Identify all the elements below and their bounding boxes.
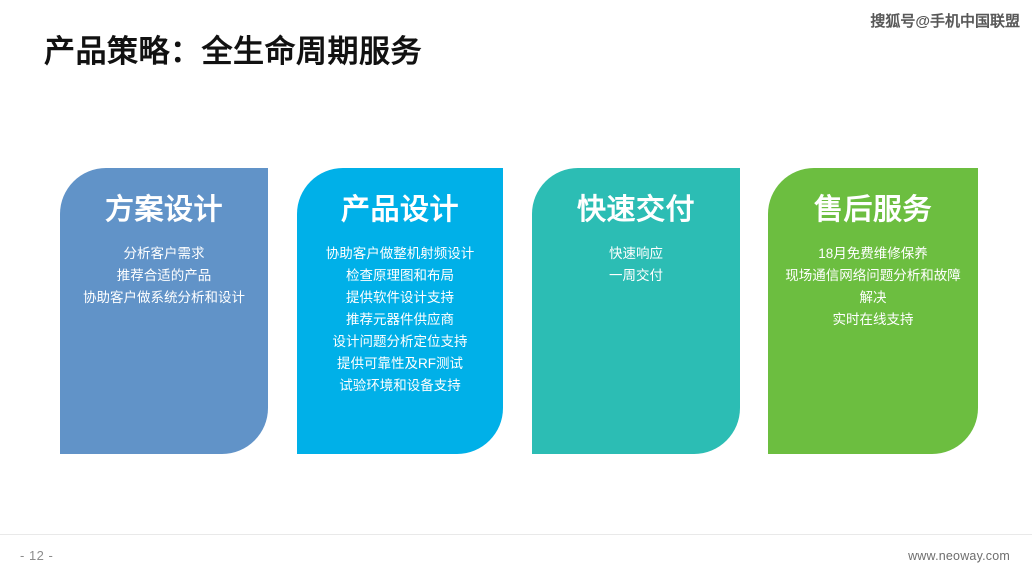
service-card-line: 推荐合适的产品 xyxy=(72,265,256,287)
page-number: - 12 - xyxy=(20,548,53,563)
watermark-text: 搜狐号@手机中国联盟 xyxy=(870,10,1020,31)
service-card-body: 协助客户做整机射频设计 检查原理图和布局 提供软件设计支持 推荐元器件供应商 设… xyxy=(303,243,497,397)
service-card-title: 售后服务 xyxy=(774,194,972,227)
page-title: 产品策略：全生命周期服务 xyxy=(44,26,422,71)
service-card-body: 快速响应 一周交付 xyxy=(538,243,734,287)
service-card-line: 现场通信网络问题分析和故障解决 xyxy=(780,265,966,309)
site-url: www.neoway.com xyxy=(908,549,1010,563)
service-card-line: 18月免费维修保养 xyxy=(780,243,966,265)
service-card-product-design[interactable]: 产品设计 协助客户做整机射频设计 检查原理图和布局 提供软件设计支持 推荐元器件… xyxy=(297,168,503,454)
service-card-title: 快速交付 xyxy=(538,194,734,227)
service-card-line: 实时在线支持 xyxy=(780,309,966,331)
service-card-body: 分析客户需求 推荐合适的产品 协助客户做系统分析和设计 xyxy=(66,243,262,309)
service-card-line: 设计问题分析定位支持 xyxy=(309,331,491,353)
service-card-line: 快速响应 xyxy=(544,243,728,265)
service-card-title: 产品设计 xyxy=(303,194,497,227)
slide-canvas: 搜狐号@手机中国联盟 产品策略：全生命周期服务 方案设计 分析客户需求 推荐合适… xyxy=(0,0,1032,574)
service-card-scheme-design[interactable]: 方案设计 分析客户需求 推荐合适的产品 协助客户做系统分析和设计 xyxy=(60,168,268,454)
service-card-line: 分析客户需求 xyxy=(72,243,256,265)
service-card-fast-delivery[interactable]: 快速交付 快速响应 一周交付 xyxy=(532,168,740,454)
service-card-line: 一周交付 xyxy=(544,265,728,287)
service-card-line: 提供软件设计支持 xyxy=(309,287,491,309)
footer-divider xyxy=(0,534,1032,535)
service-card-line: 推荐元器件供应商 xyxy=(309,309,491,331)
service-card-line: 提供可靠性及RF测试 xyxy=(309,353,491,375)
service-card-title: 方案设计 xyxy=(66,194,262,227)
service-card-line: 协助客户做系统分析和设计 xyxy=(72,287,256,309)
service-card-line: 协助客户做整机射频设计 xyxy=(309,243,491,265)
service-card-body: 18月免费维修保养 现场通信网络问题分析和故障解决 实时在线支持 xyxy=(774,243,972,331)
service-card-line: 试验环境和设备支持 xyxy=(309,375,491,397)
service-cards-row: 方案设计 分析客户需求 推荐合适的产品 协助客户做系统分析和设计 产品设计 协助… xyxy=(60,168,978,454)
service-card-after-sales[interactable]: 售后服务 18月免费维修保养 现场通信网络问题分析和故障解决 实时在线支持 xyxy=(768,168,978,454)
service-card-line: 检查原理图和布局 xyxy=(309,265,491,287)
